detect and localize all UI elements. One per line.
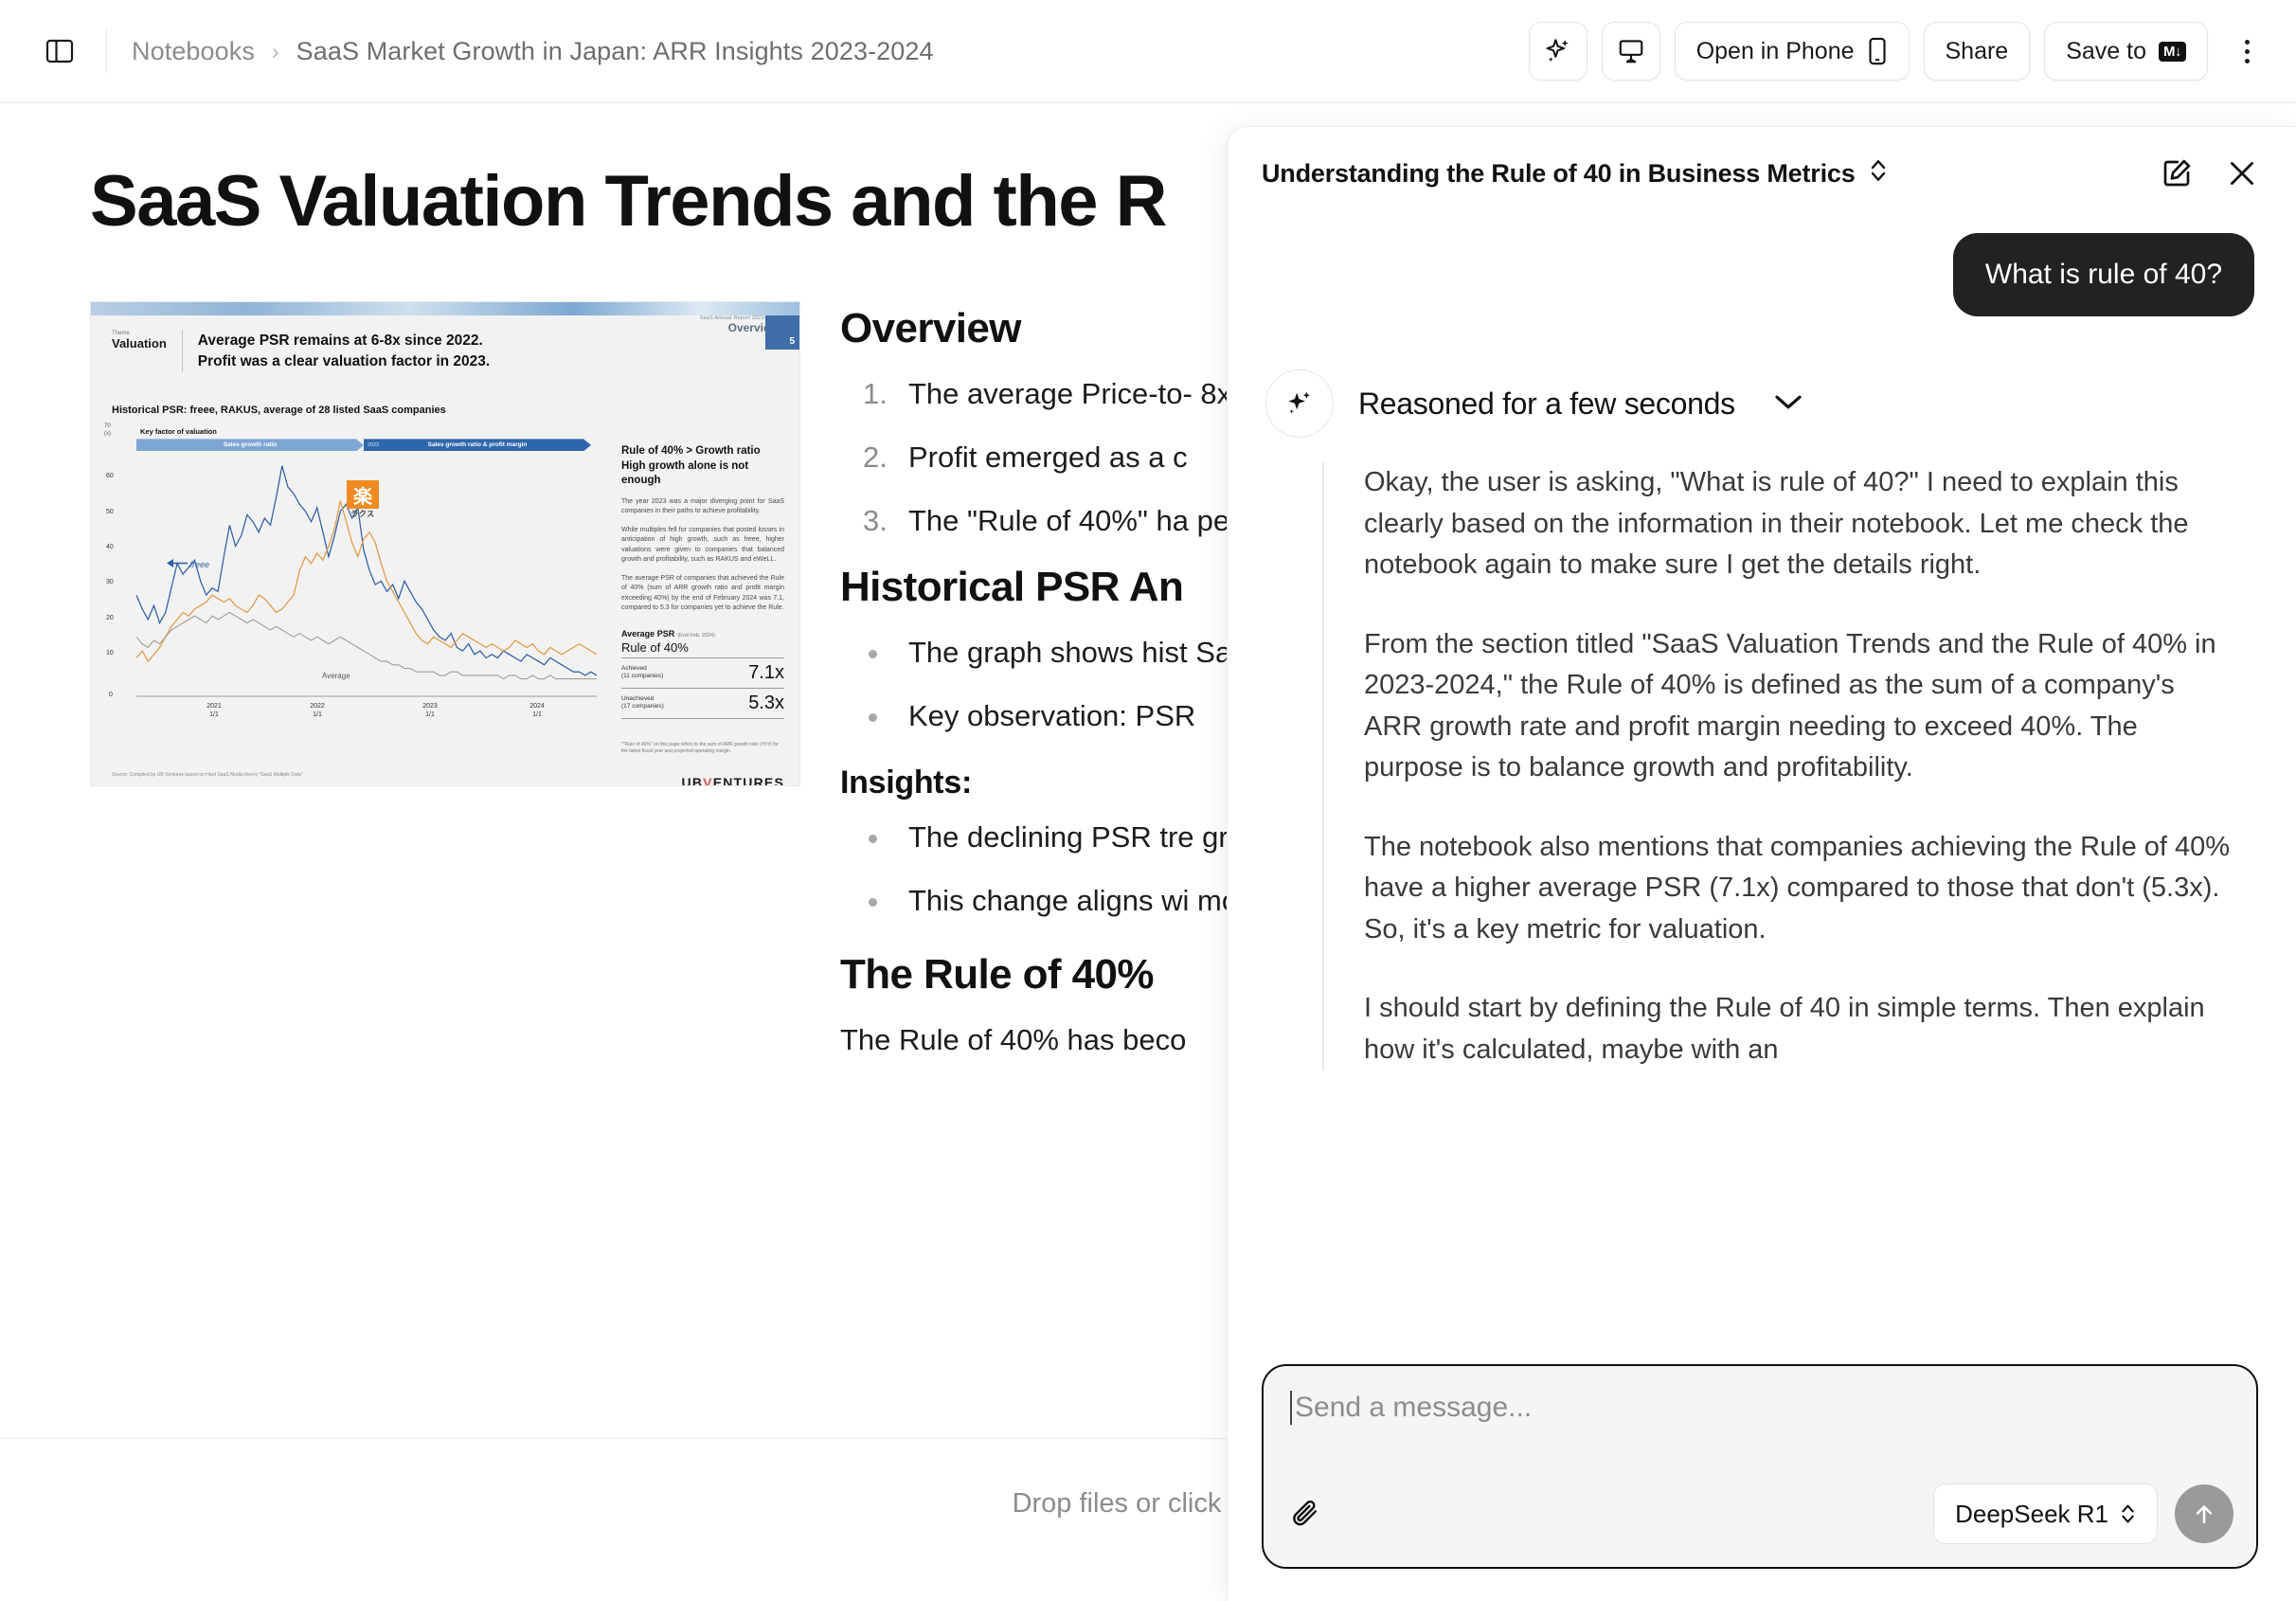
share-button[interactable]: Share xyxy=(1924,22,2031,81)
slide-headline: Average PSR remains at 6-8x since 2022. … xyxy=(198,331,490,372)
chevron-down-glyph xyxy=(1773,392,1803,411)
slide-metrics-subtitle: Rule of 40% xyxy=(621,640,784,658)
chart-key-factor-label: Key factor of valuation xyxy=(140,427,217,436)
save-to-label: Save to xyxy=(2066,38,2146,65)
message-input-placeholder: Send a message... xyxy=(1295,1392,1532,1424)
edit-square-icon[interactable] xyxy=(2160,156,2194,190)
breadcrumb-separator-icon: › xyxy=(272,39,279,64)
breadcrumb-current[interactable]: SaaS Market Growth in Japan: ARR Insight… xyxy=(296,37,934,66)
chart-ytick-30: 30 xyxy=(106,579,114,585)
chart-annotation-average: Average xyxy=(322,672,350,680)
sidebar-toggle-icon[interactable] xyxy=(38,29,81,73)
slide-metric-label-main: Achieved xyxy=(621,665,663,673)
breadcrumb-notebooks[interactable]: Notebooks xyxy=(132,37,255,66)
chat-header-actions xyxy=(2160,156,2258,190)
slide-metric-label: Unachieved (17 companies) xyxy=(621,695,664,711)
slide-metric-value: 5.3x xyxy=(748,693,784,714)
slide-metric-label-main: Unachieved xyxy=(621,695,664,703)
brand-rest: ENTURES xyxy=(713,775,784,786)
toolbar-divider xyxy=(106,29,107,73)
slide-accent-bar xyxy=(91,302,799,315)
chat-composer[interactable]: Send a message... DeepSeek R1 xyxy=(1262,1364,2258,1569)
slide-page-number: 5 xyxy=(765,315,799,350)
chart-ytick-60: 60 xyxy=(106,473,114,479)
series-line-average xyxy=(136,613,597,679)
document-left-column: SaaS Annual Report 2023-2024 Overview 5 … xyxy=(90,301,800,1062)
chevron-updown-icon xyxy=(2120,1502,2136,1526)
more-options-button[interactable] xyxy=(2222,22,2271,81)
series-line-rakus xyxy=(136,501,597,662)
presentation-icon xyxy=(1617,37,1645,65)
breadcrumb: Notebooks › SaaS Market Growth in Japan:… xyxy=(132,37,934,66)
phase-band-right-label: Sales growth ratio & profit margin xyxy=(428,441,528,448)
slide-source-note: Source: Compiled by UB Ventures based on… xyxy=(112,772,303,778)
top-toolbar: Notebooks › SaaS Market Growth in Japan:… xyxy=(0,0,2296,103)
slide-right-column: Rule of 40% > Growth ratio High growth a… xyxy=(621,444,784,786)
chart-xtick-2024: 20241/1 xyxy=(518,703,556,720)
rakus-logo-text: ラクス xyxy=(347,509,379,519)
chat-header: Understanding the Rule of 40 in Business… xyxy=(1228,127,2296,220)
phone-icon xyxy=(1867,37,1888,65)
chart-xtick-2023: 20231/1 xyxy=(411,703,449,720)
text-cursor xyxy=(1290,1391,1292,1425)
chart-ytick-20: 20 xyxy=(106,615,114,621)
reasoning-paragraph: I should start by defining the Rule of 4… xyxy=(1364,988,2235,1070)
slide-metrics-title-note: (End Feb. 2024) xyxy=(677,633,715,639)
slide-brand-logo: UBVENTURES (C) UB Ventures, Inc. xyxy=(621,775,784,786)
phase-band-left-label: Sales growth ratio xyxy=(224,441,277,448)
chart-ytick-40: 40 xyxy=(106,544,114,550)
slide-chart-title: Historical PSR: freee, RAKUS, average of… xyxy=(112,405,446,416)
slide-right-heading-1: Rule of 40% > Growth ratio xyxy=(621,444,784,459)
present-button[interactable] xyxy=(1602,22,1660,81)
brand-v: V xyxy=(703,775,713,786)
slide-footnote: *"Rule of 40%" on this page refers to th… xyxy=(621,742,784,756)
chart-y-unit: 70 (x) xyxy=(104,423,111,438)
save-to-button[interactable]: Save to M↓ xyxy=(2044,22,2208,81)
markdown-badge-icon: M↓ xyxy=(2159,42,2186,62)
reasoning-paragraph: Okay, the user is asking, "What is rule … xyxy=(1364,462,2235,586)
paperclip-glyph xyxy=(1290,1496,1322,1528)
assistant-avatar xyxy=(1265,369,1334,438)
reasoning-paragraph: From the section titled "SaaS Valuation … xyxy=(1364,624,2235,789)
chart-ytick-0: 0 xyxy=(109,692,113,698)
assistant-reasoning-header[interactable]: Reasoned for a few seconds xyxy=(1265,369,2254,438)
reasoning-status-label: Reasoned for a few seconds xyxy=(1358,387,1735,422)
slide-brand-name: UBVENTURES xyxy=(621,775,784,786)
chevron-updown-glyph xyxy=(1869,156,1888,185)
chevron-updown-icon[interactable] xyxy=(1869,156,1888,190)
send-button[interactable] xyxy=(2175,1484,2233,1543)
chat-composer-wrapper: Send a message... DeepSeek R1 xyxy=(1262,1364,2258,1569)
embedded-slide-image[interactable]: SaaS Annual Report 2023-2024 Overview 5 … xyxy=(90,301,800,786)
chart-xtick-2022: 20221/1 xyxy=(298,703,336,720)
sparkle-icon xyxy=(1283,387,1316,420)
chat-panel: Understanding the Rule of 40 in Business… xyxy=(1227,126,2296,1601)
slide-right-heading-2: High growth alone is not enough xyxy=(621,459,784,489)
slide-metric-row: Achieved (11 companies) 7.1x xyxy=(621,658,784,689)
user-message-row: What is rule of 40? xyxy=(1265,233,2254,316)
slide-headline-line2: Profit was a clear valuation factor in 2… xyxy=(198,351,490,372)
brand-u: UB xyxy=(682,775,704,786)
edit-square-glyph xyxy=(2160,156,2194,190)
panel-toggle-glyph xyxy=(45,38,74,64)
slide-metrics-title: Average PSR(End Feb. 2024) xyxy=(621,629,784,639)
chart-annotation-freee-label: freee xyxy=(190,560,210,569)
slide-metric-label-sub: (17 companies) xyxy=(621,703,664,711)
slide-metric-label: Achieved (11 companies) xyxy=(621,665,663,681)
app-root: Notebooks › SaaS Market Growth in Japan:… xyxy=(0,0,2296,1601)
model-name-label: DeepSeek R1 xyxy=(1955,1500,2108,1529)
composer-toolbar: DeepSeek R1 xyxy=(1290,1484,2233,1544)
sparkle-icon xyxy=(1543,36,1573,66)
slide-right-para-3: The average PSR of companies that achiev… xyxy=(621,574,784,614)
user-message-bubble: What is rule of 40? xyxy=(1953,233,2254,316)
slide-metrics-table: Average PSR(End Feb. 2024) Rule of 40% A… xyxy=(621,629,784,719)
slide-metric-row: Unachieved (17 companies) 5.3x xyxy=(621,689,784,719)
paperclip-icon[interactable] xyxy=(1290,1496,1322,1533)
open-in-phone-label: Open in Phone xyxy=(1696,38,1855,65)
slide-right-para-1: The year 2023 was a major diverging poin… xyxy=(621,497,784,517)
message-input[interactable]: Send a message... xyxy=(1290,1391,2230,1425)
psr-line-chart: 70 (x) Key factor of valuation Sales gro… xyxy=(104,423,597,717)
chevron-down-icon[interactable] xyxy=(1773,392,1803,416)
phase-band-right: 2022 Sales growth ratio & profit margin xyxy=(364,439,591,451)
share-label: Share xyxy=(1946,38,2009,65)
chart-annotation-rakus: 楽 ラクス xyxy=(347,480,379,519)
rakus-logo-mark: 楽 xyxy=(347,480,379,509)
slide-theme-block: Theme Valuation xyxy=(112,331,167,351)
slide-theme-label: Valuation xyxy=(112,337,167,351)
slide-metric-label-sub: (11 companies) xyxy=(621,673,663,680)
reasoning-paragraph: The notebook also mentions that companie… xyxy=(1364,827,2235,951)
chart-y-unit-label: (x) xyxy=(104,431,111,439)
phase-band-left: Sales growth ratio xyxy=(136,439,364,451)
reasoning-text-block: Okay, the user is asking, "What is rule … xyxy=(1322,462,2254,1070)
chart-ytick-50: 50 xyxy=(106,509,114,515)
slide-header: Theme Valuation Average PSR remains at 6… xyxy=(112,331,490,372)
chart-phase-band: Sales growth ratio 2022 Sales growth rat… xyxy=(136,439,591,451)
close-icon[interactable] xyxy=(2226,157,2258,189)
ai-assist-button[interactable] xyxy=(1529,22,1587,81)
arrow-up-icon xyxy=(2190,1500,2218,1528)
chart-ytick-10: 10 xyxy=(106,650,114,657)
slide-metrics-title-main: Average PSR xyxy=(621,629,674,639)
model-selector[interactable]: DeepSeek R1 xyxy=(1933,1484,2158,1544)
close-glyph xyxy=(2226,157,2258,189)
more-vertical-icon xyxy=(2245,40,2250,63)
toolbar-actions: Open in Phone Share Save to M↓ xyxy=(1529,22,2271,81)
chat-title: Understanding the Rule of 40 in Business… xyxy=(1262,159,1856,189)
slide-right-para-2: While multiples fell for companies that … xyxy=(621,526,784,566)
slide-metric-value: 7.1x xyxy=(748,662,784,684)
chart-xtick-2021: 20211/1 xyxy=(195,703,233,720)
phase-band-year: 2022 xyxy=(368,442,379,448)
chart-annotation-freee: freee xyxy=(167,558,209,569)
arrow-left-icon xyxy=(167,558,188,568)
chart-y-max: 70 xyxy=(104,423,111,431)
slide-headline-line1: Average PSR remains at 6-8x since 2022. xyxy=(198,331,490,351)
open-in-phone-button[interactable]: Open in Phone xyxy=(1675,22,1910,81)
slide-header-divider xyxy=(182,331,183,372)
